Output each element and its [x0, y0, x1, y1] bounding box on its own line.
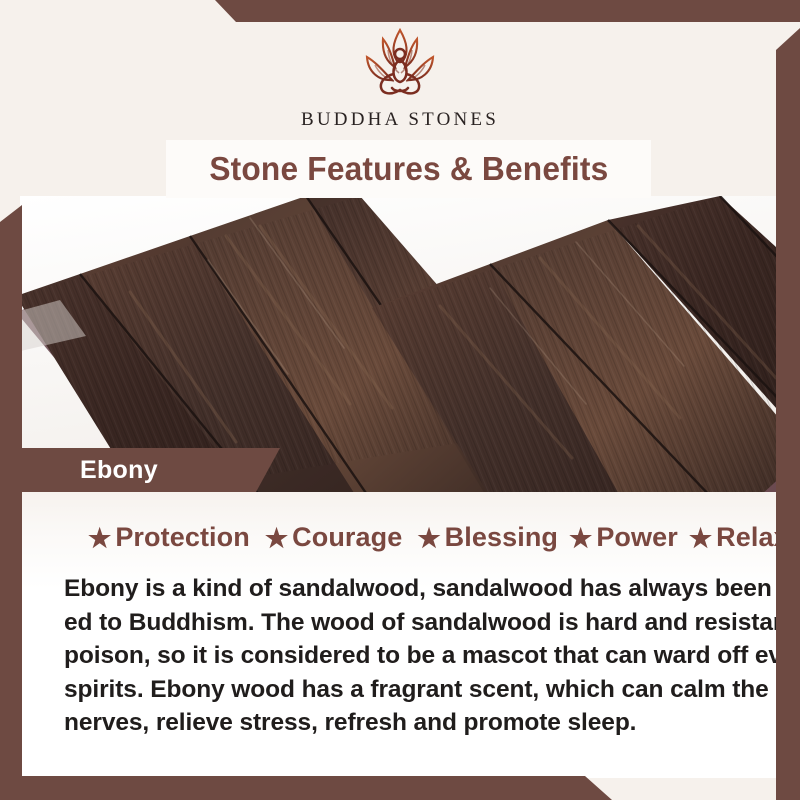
frame-bottom-bar — [0, 776, 800, 800]
benefits-list: ★ Protection ★ Courage ★ Blessing ★ Powe… — [88, 524, 742, 551]
benefit-item-blessing: ★ Blessing — [417, 524, 558, 551]
title-banner: Stone Features & Benefits — [166, 140, 651, 198]
star-icon: ★ — [265, 525, 288, 551]
frame-right-bar — [776, 0, 800, 800]
benefit-label: Blessing — [445, 524, 558, 551]
brand-header: BUDDHA STONES — [0, 0, 800, 150]
description-line: Ebony is a kind of sandalwood, sandalwoo… — [64, 572, 720, 606]
lotus-meditation-icon — [340, 22, 460, 104]
product-label-banner: Ebony — [20, 448, 280, 492]
benefit-label: Protection — [115, 524, 250, 551]
description-paragraph: Ebony is a kind of sandalwood, sandalwoo… — [64, 572, 720, 740]
benefit-item-relax: ★ Relax — [689, 524, 789, 551]
description-line: nerves, relieve stress, refresh and prom… — [64, 706, 720, 740]
benefit-label: Courage — [292, 524, 402, 551]
brand-name: BUDDHA STONES — [301, 109, 499, 131]
benefit-label: Power — [596, 524, 678, 551]
product-label: Ebony — [80, 456, 158, 485]
star-icon: ★ — [569, 525, 592, 551]
benefit-item-courage: ★ Courage — [265, 524, 403, 551]
description-line: poison, so it is considered to be a masc… — [64, 639, 720, 673]
content-panel: ★ Protection ★ Courage ★ Blessing ★ Powe… — [22, 492, 782, 778]
infographic-card: BUDDHA STONES Stone Features & Benefits — [0, 0, 800, 800]
star-icon: ★ — [88, 525, 111, 551]
benefit-item-power: ★ Power — [569, 524, 678, 551]
star-icon: ★ — [689, 525, 712, 551]
star-icon: ★ — [417, 525, 440, 551]
benefit-item-protection: ★ Protection — [88, 524, 250, 551]
description-line: spirits. Ebony wood has a fragrant scent… — [64, 673, 720, 707]
description-line: ed to Buddhism. The wood of sandalwood i… — [64, 606, 720, 640]
page-title: Stone Features & Benefits — [209, 150, 608, 188]
